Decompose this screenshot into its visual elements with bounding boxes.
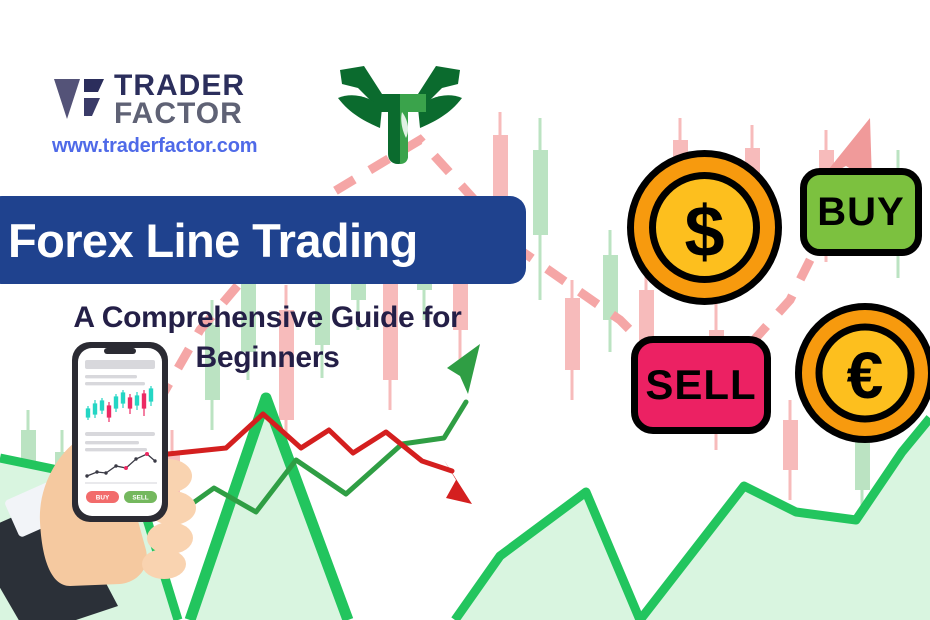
- title-banner: Forex Line Trading: [0, 196, 526, 284]
- sell-badge[interactable]: SELL: [631, 336, 771, 434]
- green-bull-head-icon: [330, 52, 470, 167]
- dollar-coin-icon: $: [627, 150, 782, 305]
- euro-coin-icon: €: [795, 303, 930, 443]
- brand-line-trader: TRADER: [114, 72, 245, 100]
- phone-buy-label: BUY: [96, 495, 110, 502]
- red-arrow-head-icon: [444, 460, 472, 504]
- buy-badge-label: BUY: [817, 190, 904, 235]
- brand-lockup: TRADER FACTOR www.traderfactor.com: [52, 72, 342, 158]
- brand-line-factor: FACTOR: [114, 100, 245, 128]
- dollar-symbol: $: [684, 192, 724, 272]
- brand-website-url[interactable]: www.traderfactor.com: [52, 135, 342, 158]
- buy-badge[interactable]: BUY: [800, 168, 922, 256]
- trader-factor-tf-mark-icon: [52, 75, 104, 125]
- page-subtitle: A Comprehensive Guide for Beginners: [40, 298, 495, 377]
- euro-symbol: €: [847, 338, 884, 412]
- poster-canvas: BUY SELL TRADER FACTOR www.traderfactor.…: [0, 0, 930, 620]
- sell-badge-label: SELL: [645, 361, 756, 409]
- phone-sell-label: SELL: [132, 495, 148, 502]
- brand-wordmark: TRADER FACTOR: [114, 72, 245, 127]
- phone-in-hand-illustration: BUY SELL: [0, 336, 240, 620]
- page-title: Forex Line Trading: [0, 213, 418, 268]
